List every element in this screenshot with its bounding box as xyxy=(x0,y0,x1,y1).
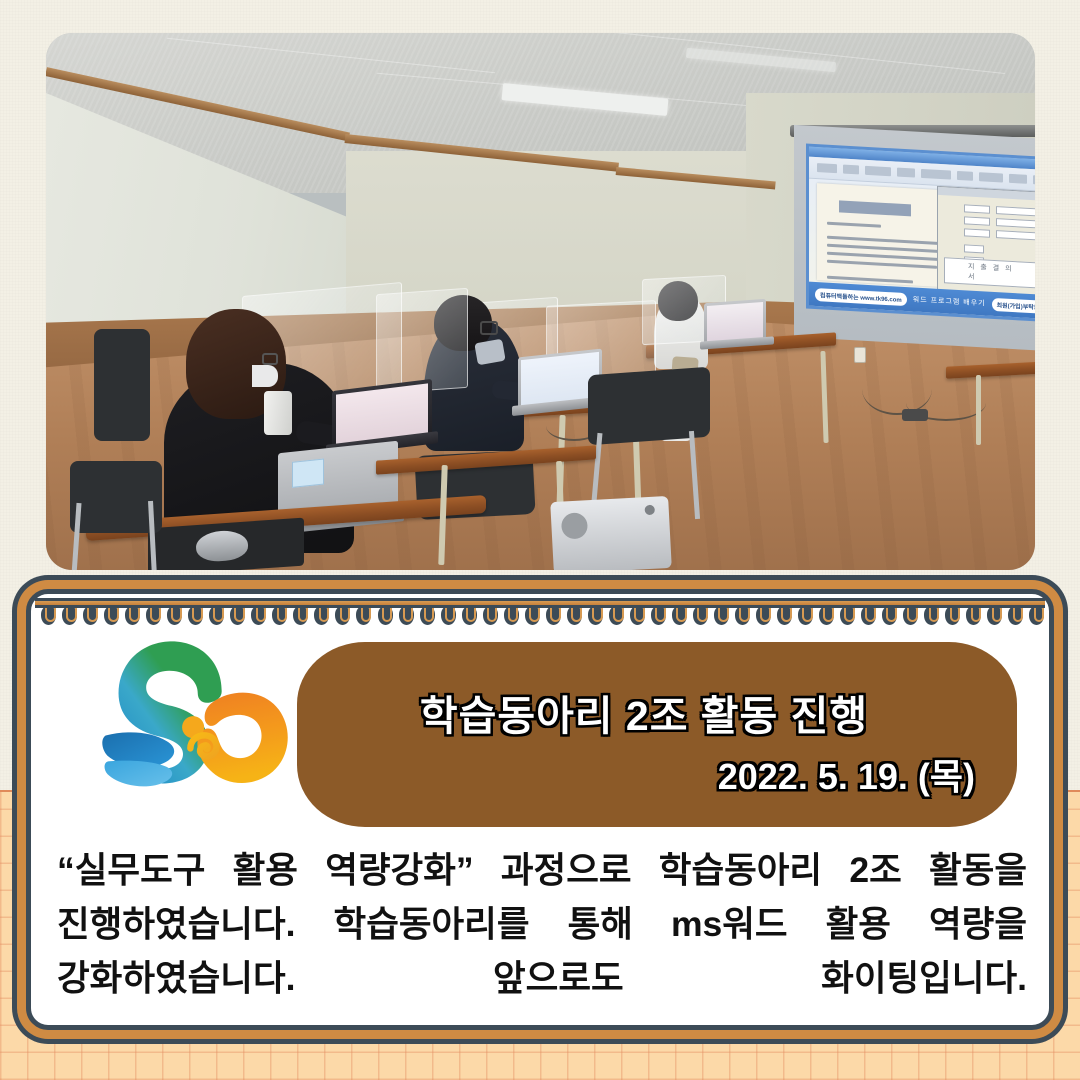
footer-right-pill: 최원(가입)부탁드립니다. xyxy=(992,297,1035,314)
spiral-ring xyxy=(167,602,182,625)
footer-left-pill: 컴퓨터백들하는 www.tk96.com xyxy=(815,288,907,306)
chair-left-back xyxy=(94,329,150,441)
spiral-ring xyxy=(125,602,140,625)
spiral-ring xyxy=(525,602,540,625)
spiral-ring xyxy=(104,602,119,625)
spiral-ring xyxy=(903,602,918,625)
spiral-ring xyxy=(777,602,792,625)
page-title: 학습동아리 2조 활동 진행 xyxy=(297,682,991,742)
spiral-ring xyxy=(798,602,813,625)
event-date: 2022. 5. 19. (목) xyxy=(718,748,975,800)
spiral-ring xyxy=(146,602,161,625)
photo-scene: 지 출 결 의 서 컴퓨터백들하는 www.tk96.com 워드 프로그램 배… xyxy=(46,33,1035,570)
spiral-ring xyxy=(41,602,56,625)
spiral-ring xyxy=(209,602,224,625)
spiral-ring xyxy=(462,602,477,625)
projector-lens xyxy=(561,512,588,539)
spiral-ring xyxy=(504,602,519,625)
spiral-ring xyxy=(714,602,729,625)
projection-screen: 지 출 결 의 서 컴퓨터백들하는 www.tk96.com 워드 프로그램 배… xyxy=(794,125,1035,353)
spiral-ring xyxy=(945,602,960,625)
spiral-ring xyxy=(83,602,98,625)
wall-socket xyxy=(854,347,866,363)
footer-center-text: 워드 프로그램 배우기 xyxy=(913,294,986,308)
dialog-preview: 지 출 결 의 서 xyxy=(944,257,1035,288)
thermos xyxy=(264,391,292,435)
spiral-ring xyxy=(651,602,666,625)
spiral-ring xyxy=(819,602,834,625)
face-mask xyxy=(252,365,278,387)
spiral-ring xyxy=(378,602,393,625)
spiral-ring xyxy=(609,602,624,625)
projector-device xyxy=(550,496,672,570)
projector-button xyxy=(644,505,655,516)
dialog-preview-text: 지 출 결 의 서 xyxy=(968,262,1014,285)
spiral-ring xyxy=(62,602,77,625)
spiral-ring xyxy=(1029,602,1044,625)
spiral-ring xyxy=(756,602,771,625)
eyeglasses xyxy=(262,353,278,365)
document-heading xyxy=(839,200,911,216)
spiral-ring xyxy=(399,602,414,625)
organization-logo-icon xyxy=(93,636,308,811)
spiral-ring xyxy=(735,602,750,625)
spiral-ring xyxy=(672,602,687,625)
spiral-ring xyxy=(188,602,203,625)
body-paragraph: “실무도구 활용 역량강화” 과정으로 학습동아리 2조 활동을 진행하였습니다… xyxy=(57,844,1027,1060)
spiral-ring xyxy=(230,602,245,625)
logo-blue-ribbon-lower xyxy=(105,761,173,787)
notebook-card: 학습동아리 2조 활동 진행 2022. 5. 19. (목) “실무도구 활용… xyxy=(26,589,1054,1030)
spiral-ring xyxy=(420,602,435,625)
spiral-ring xyxy=(630,602,645,625)
spiral-ring xyxy=(483,602,498,625)
spiral-ring xyxy=(293,602,308,625)
spiral-ring xyxy=(441,602,456,625)
spiral-ring xyxy=(882,602,897,625)
spiral-rings xyxy=(41,602,1045,632)
spiral-ring xyxy=(588,602,603,625)
spiral-ring xyxy=(966,602,981,625)
spiral-ring xyxy=(1008,602,1023,625)
laptop-sticker xyxy=(292,458,324,487)
spiral-ring xyxy=(567,602,582,625)
spiral-ring xyxy=(840,602,855,625)
spiral-ring xyxy=(924,602,939,625)
spiral-ring xyxy=(987,602,1002,625)
spiral-ring xyxy=(272,602,287,625)
spiral-ring xyxy=(251,602,266,625)
spiral-ring xyxy=(693,602,708,625)
spiral-ring xyxy=(314,602,329,625)
spiral-ring xyxy=(861,602,876,625)
eyeglasses xyxy=(480,321,498,335)
poster-canvas: 지 출 결 의 서 컴퓨터백들하는 www.tk96.com 워드 프로그램 배… xyxy=(0,0,1080,1080)
spiral-ring xyxy=(335,602,350,625)
spiral-ring xyxy=(356,602,371,625)
desk-leg xyxy=(976,375,981,445)
classroom-photo: 지 출 결 의 서 컴퓨터백들하는 www.tk96.com 워드 프로그램 배… xyxy=(46,33,1035,570)
title-plate: 학습동아리 2조 활동 진행 2022. 5. 19. (목) xyxy=(297,642,1017,827)
projected-word-document: 지 출 결 의 서 컴퓨터백들하는 www.tk96.com 워드 프로그램 배… xyxy=(806,144,1035,324)
cable-plug xyxy=(902,409,928,421)
acrylic-partition xyxy=(376,288,468,394)
spiral-ring xyxy=(546,602,561,625)
